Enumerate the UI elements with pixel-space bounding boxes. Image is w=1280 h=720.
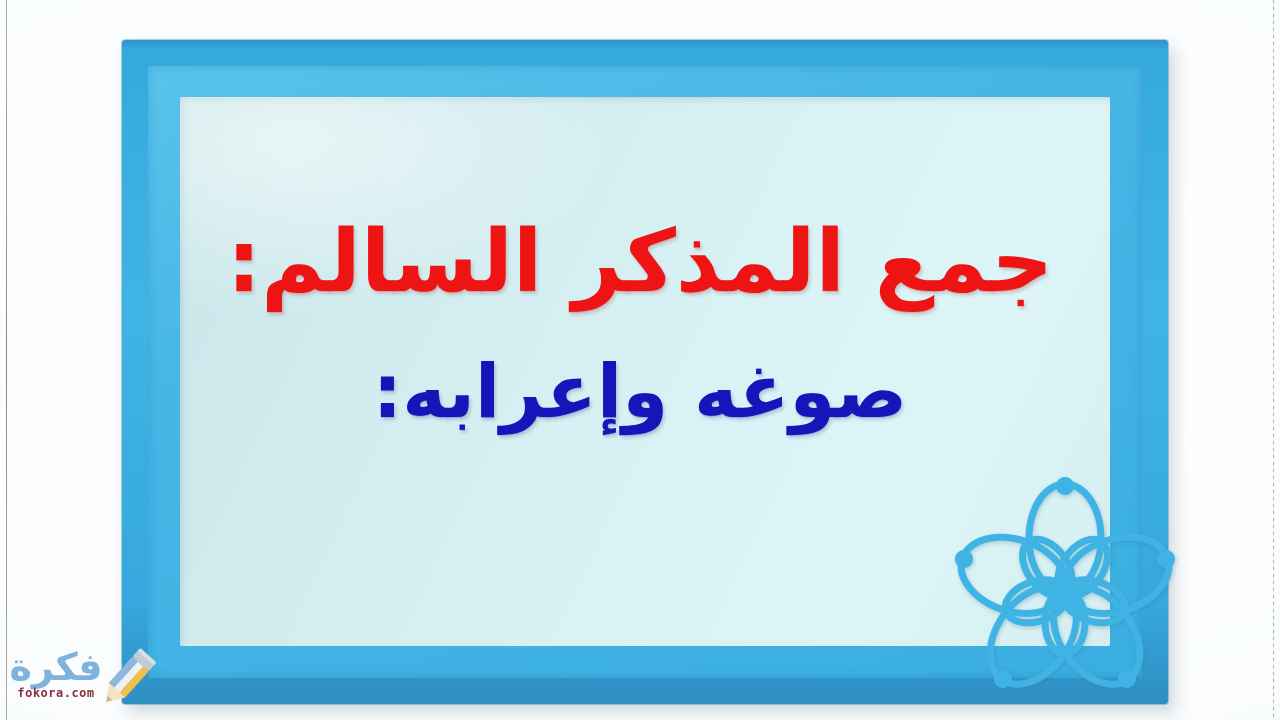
left-edge-rule xyxy=(6,0,7,720)
board-frame xyxy=(122,40,1168,704)
right-edge-rule xyxy=(1273,0,1274,720)
slide-stage: جمع المذكر السالم: صوغه وإعرابه: xyxy=(0,0,1280,720)
board-frame-bevel xyxy=(148,66,1142,678)
board-surface xyxy=(180,97,1110,646)
